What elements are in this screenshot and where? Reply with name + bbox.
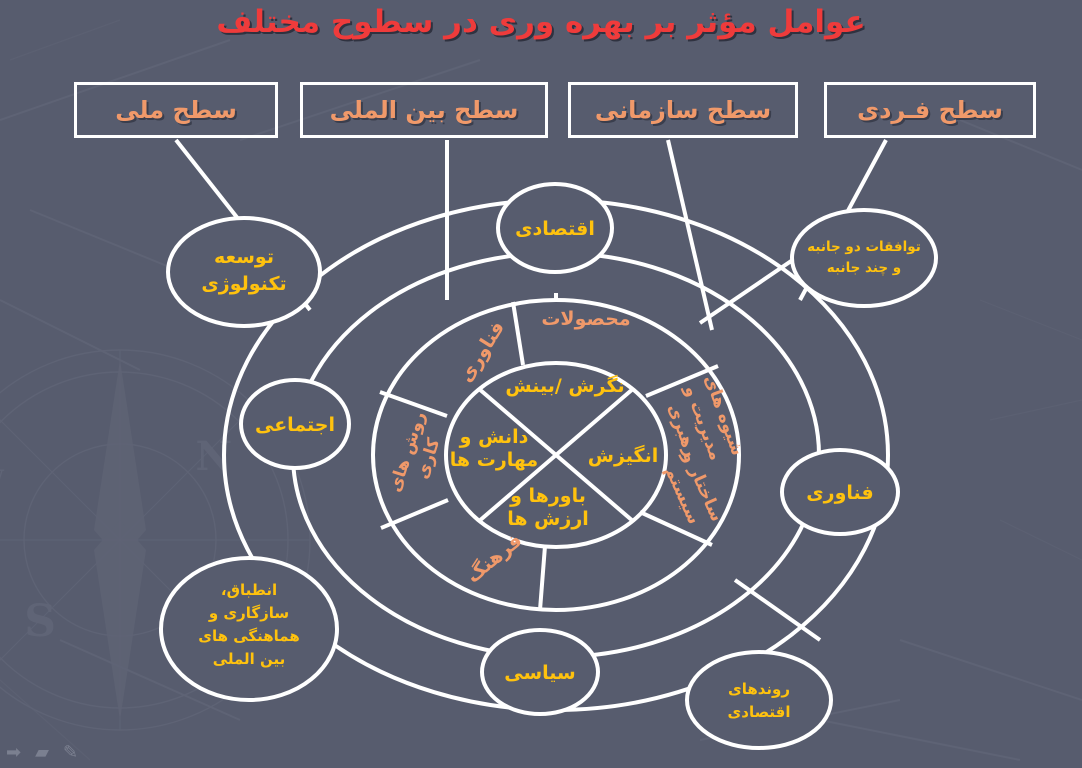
core-label-knowledge-skills: دانش و مهارت ها bbox=[450, 426, 538, 471]
svg-text:اقتصادی: اقتصادی bbox=[515, 218, 595, 240]
svg-text:بین الملی: بین الملی bbox=[213, 650, 286, 668]
svg-text:و چند جانبه: و چند جانبه bbox=[827, 260, 901, 276]
svg-text:ارزش ها: ارزش ها bbox=[507, 508, 589, 530]
svg-text:توافقات دو جانبه: توافقات دو جانبه bbox=[807, 239, 921, 255]
svg-text:اجتماعی: اجتماعی bbox=[255, 414, 335, 436]
node-economic[interactable]: اقتصادی bbox=[498, 184, 612, 272]
presentation-toolbar[interactable]: ✎ ▰ ➡ bbox=[6, 744, 78, 762]
core-label-motivation: انگیزش bbox=[588, 444, 659, 467]
node-political[interactable]: سیاسی bbox=[482, 630, 598, 714]
svg-text:سازگاری و: سازگاری و bbox=[208, 604, 289, 622]
connector-organizational bbox=[668, 140, 712, 330]
svg-text:فناوری: فناوری bbox=[806, 482, 874, 504]
svg-text:اقتصادی: اقتصادی bbox=[728, 703, 791, 721]
ring-label-culture: فرهنگ bbox=[462, 529, 527, 588]
core-label-attitude-vision: نگرش /بینش bbox=[505, 374, 624, 397]
svg-text:باورها و: باورها و bbox=[509, 485, 586, 507]
svg-text:سیاسی: سیاسی bbox=[504, 662, 575, 684]
node-technology-dev[interactable]: توسعه تکنولوژی bbox=[168, 218, 320, 326]
node-economic-trends[interactable]: روندهای اقتصادی bbox=[687, 652, 831, 748]
node-technology[interactable]: فناوری bbox=[782, 450, 898, 534]
ring-label-leadership-styles: شیوه های مدیریت و رهبری bbox=[658, 373, 747, 474]
svg-text:روندهای: روندهای bbox=[728, 680, 790, 698]
arrow-right-icon[interactable]: ➡ bbox=[6, 744, 21, 762]
svg-text:توسعه: توسعه bbox=[214, 246, 274, 268]
svg-text:تکنولوژی: تکنولوژی bbox=[201, 273, 286, 295]
node-adaptation[interactable]: انطباق، سازگاری و هماهنگی های بین الملی bbox=[161, 558, 337, 700]
node-social[interactable]: اجتماعی bbox=[241, 380, 349, 468]
svg-text:دانش و: دانش و bbox=[459, 426, 529, 448]
svg-text:هماهنگی های: هماهنگی های bbox=[198, 627, 300, 645]
svg-text:مهارت ها: مهارت ها bbox=[450, 449, 538, 471]
ring-label-work-methods: روش های کاری bbox=[385, 409, 451, 501]
node-bilateral-agreements[interactable]: توافقات دو جانبه و چند جانبه bbox=[792, 210, 936, 306]
svg-text:انطباق،: انطباق، bbox=[221, 581, 277, 599]
concentric-factors-diagram: محصولات فناوری روش های کاری فرهنگ ساختار… bbox=[0, 0, 1082, 768]
core-label-beliefs-values: باورها و ارزش ها bbox=[507, 485, 589, 530]
slide-icon[interactable]: ▰ bbox=[35, 744, 49, 762]
ring-label-products: محصولات bbox=[541, 308, 630, 330]
pen-icon[interactable]: ✎ bbox=[63, 744, 78, 762]
